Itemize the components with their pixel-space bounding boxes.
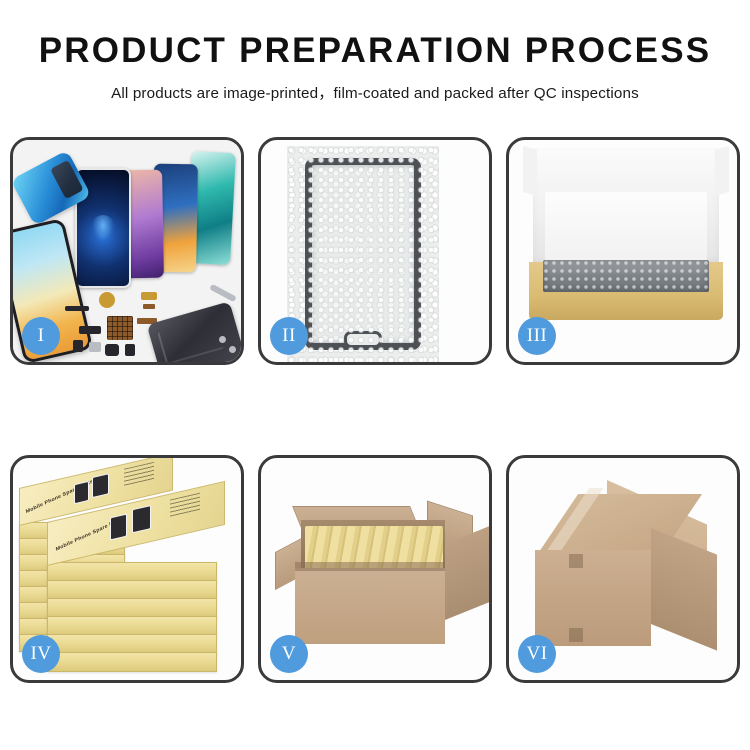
foam-padding-icon — [545, 192, 707, 264]
page-title: PRODUCT PREPARATION PROCESS — [0, 0, 750, 70]
carton-seam-bottom — [569, 628, 583, 642]
carton-right-face — [445, 526, 489, 620]
box-print-textlines — [170, 493, 200, 518]
box-print-phone-icon — [132, 505, 151, 533]
stacked-box — [47, 598, 217, 618]
process-panel-1: I — [10, 137, 244, 365]
speaker-part-icon — [99, 292, 115, 308]
flex-cable-part-icon — [65, 306, 89, 311]
wrapped-screen-icon — [305, 158, 421, 350]
page-subtitle: All products are image-printed，film-coat… — [0, 70, 750, 103]
process-panel-3: III — [506, 137, 740, 365]
process-panel-5: V — [258, 455, 492, 683]
panel-2-badge: II — [270, 317, 308, 355]
panel-5-badge: V — [270, 635, 308, 673]
stacked-box — [47, 562, 217, 582]
process-panel-grid: I II III — [10, 137, 740, 683]
stacked-box — [47, 634, 217, 654]
panel-1-badge: I — [22, 317, 60, 355]
camera-module-icon — [79, 326, 101, 334]
box-print-phone-icon — [110, 514, 127, 541]
screw-icon — [229, 346, 236, 353]
box-print-phone-icon — [92, 473, 109, 498]
header: PRODUCT PREPARATION PROCESS All products… — [0, 0, 750, 130]
sim-tray-icon — [125, 344, 135, 356]
carton-front-flap-edge — [295, 562, 445, 571]
carton-front-face — [535, 550, 651, 646]
screw-icon — [219, 336, 226, 343]
connector-part-icon — [143, 304, 155, 309]
panel-4-badge: IV — [22, 635, 60, 673]
chip-array-icon — [107, 316, 133, 340]
process-panel-6: VI — [506, 455, 740, 683]
process-panel-4: Mobile Phone Spare Parts Mobile Phone Sp… — [10, 455, 244, 683]
panel-3-badge: III — [518, 317, 556, 355]
box-print-phone-icon — [74, 481, 89, 504]
carton-seam-top — [569, 554, 583, 568]
process-panel-2: II — [258, 137, 492, 365]
carton-right-face — [651, 528, 717, 651]
vibrator-part-icon — [141, 292, 157, 300]
panel-6-badge: VI — [518, 635, 556, 673]
button-part-icon — [73, 340, 83, 352]
stacked-box — [47, 652, 217, 672]
carton-front-face — [295, 568, 445, 644]
stacked-box — [47, 616, 217, 636]
stacked-box — [47, 580, 217, 600]
motor-part-icon — [105, 344, 119, 356]
box-print-textlines — [124, 462, 154, 487]
packed-screen-icon — [543, 260, 709, 292]
bracket-part-icon — [89, 342, 101, 352]
